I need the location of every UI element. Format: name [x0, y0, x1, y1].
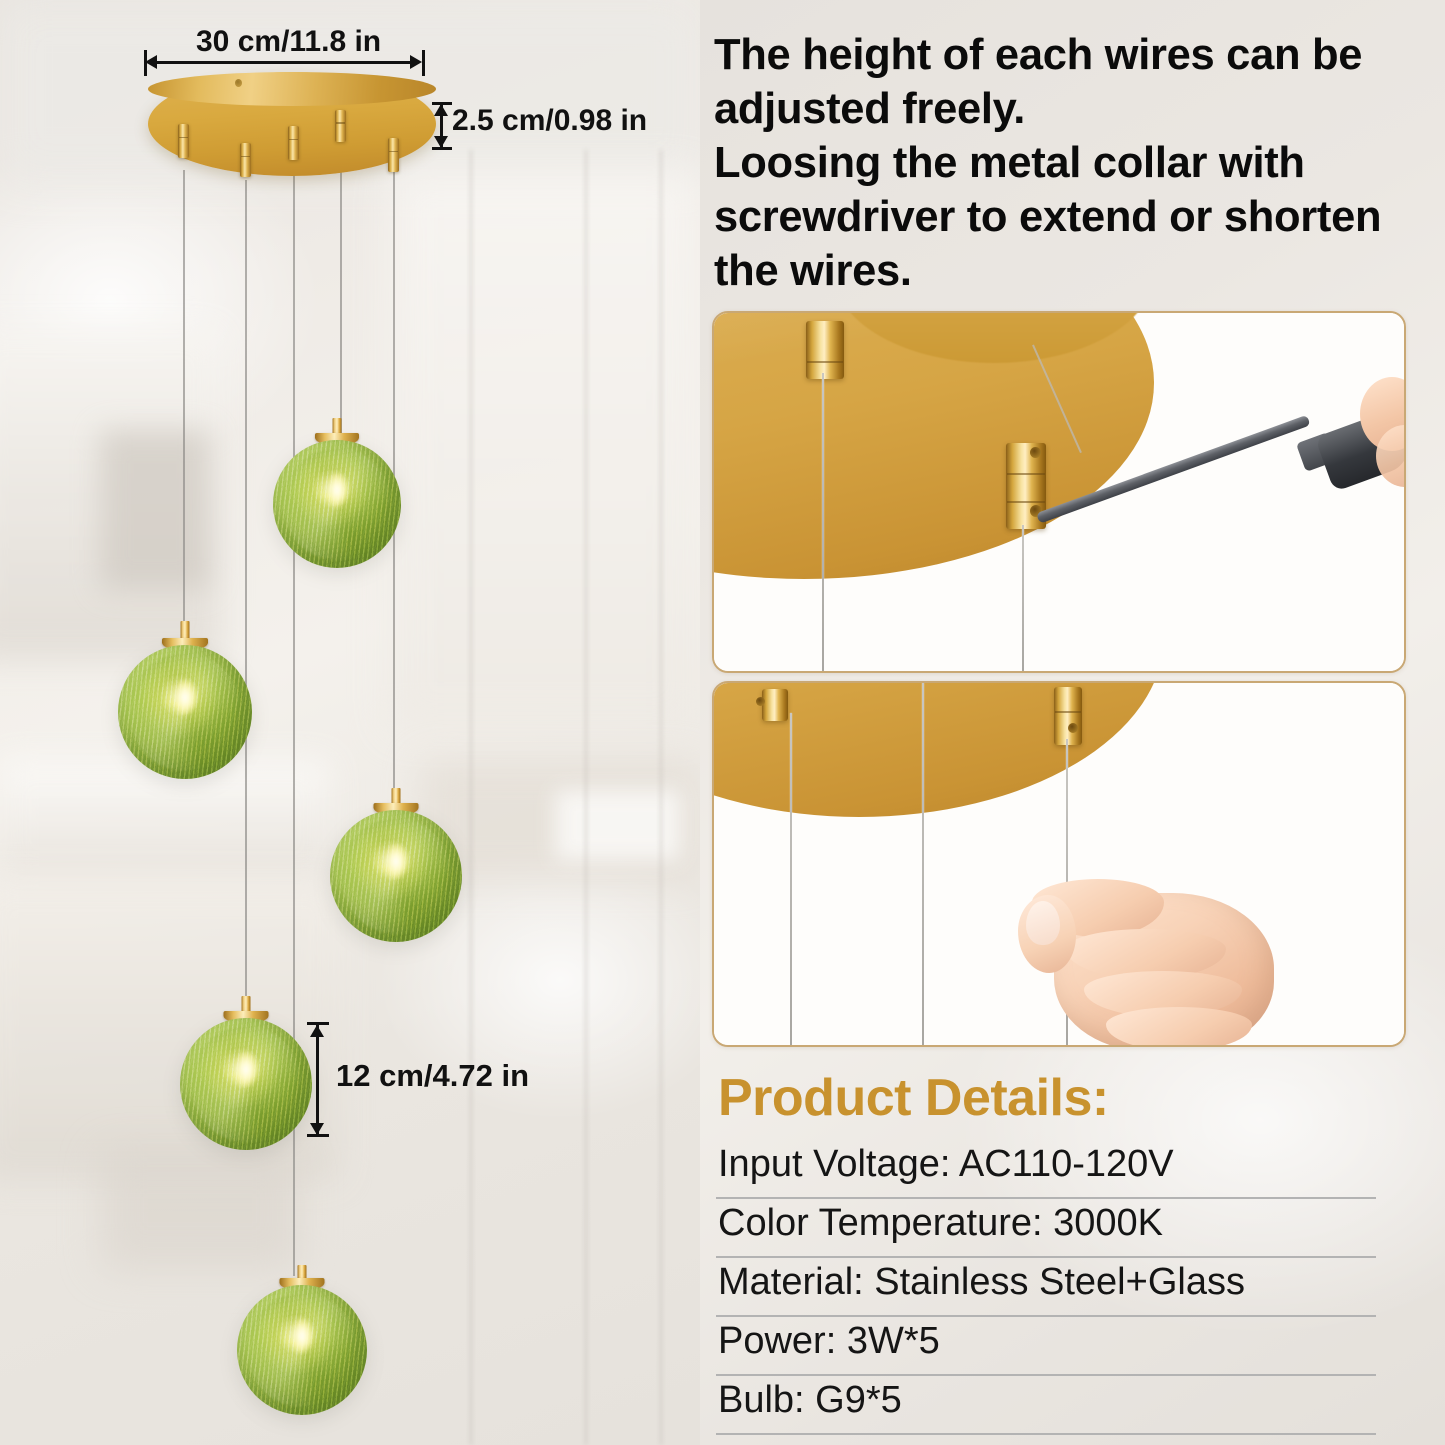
pendant-globe-5	[237, 1285, 367, 1415]
wire-collar-5	[388, 138, 399, 172]
globe-arrow-down-icon	[310, 1123, 324, 1135]
screwdriver-photo-inner	[714, 313, 1404, 671]
headline-line-4: screwdriver to extend or shorten	[714, 190, 1436, 244]
thickness-arrow-down-icon	[434, 136, 448, 148]
suspension-wire-1	[183, 170, 185, 655]
glass-ball	[330, 810, 462, 942]
detail-text: Input Voltage: AC110-120V	[718, 1140, 1174, 1188]
detail-text: Power: 3W*5	[718, 1317, 940, 1365]
wire-collar-c	[1054, 687, 1082, 745]
hand-photo-inner	[714, 683, 1404, 1045]
product-details-list: Input Voltage: AC110-120V Color Temperat…	[716, 1140, 1376, 1435]
globe-dimension-label: 12 cm/4.72 in	[336, 1058, 529, 1094]
globe-arrow-up-icon	[310, 1025, 324, 1037]
product-hero-scene: 30 cm/11.8 in 2.5 cm/0.98 in 12 cm/4.72 …	[0, 0, 700, 1445]
collar-eyelet	[1030, 447, 1041, 458]
instruction-headline: The height of each wires can be adjusted…	[714, 28, 1436, 298]
bg-cabinet-recess	[100, 430, 210, 590]
detail-row-power: Power: 3W*5	[716, 1317, 1376, 1376]
pendant-globe-1	[273, 440, 401, 568]
wire-collar-left	[806, 321, 844, 379]
bulb-glow	[235, 1052, 256, 1086]
detail-row-bulb: Bulb: G9*5	[716, 1376, 1376, 1435]
hand-detail-photo	[712, 681, 1406, 1047]
wire-collar-4	[335, 110, 346, 142]
bulb-glow	[327, 473, 347, 506]
width-arrow-right-icon	[410, 55, 422, 69]
bg-wall-seam-2	[585, 150, 587, 1445]
width-dimension-label: 30 cm/11.8 in	[196, 25, 381, 59]
detail-row-color-temperature: Color Temperature: 3000K	[716, 1199, 1376, 1258]
thickness-arrow-up-icon	[434, 104, 448, 116]
thumb-nail	[1026, 901, 1060, 945]
product-details-title: Product Details:	[718, 1068, 1109, 1128]
width-arrow-left-icon	[145, 55, 157, 69]
canopy-top-face	[148, 72, 436, 106]
detail-row-material: Material: Stainless Steel+Glass	[716, 1258, 1376, 1317]
headline-line-1: The height of each wires can be	[714, 28, 1436, 82]
wire-collar-3	[288, 126, 299, 160]
wire-center	[1022, 525, 1024, 671]
hand-pulling-wire	[1014, 871, 1314, 1045]
headline-line-5: the wires.	[714, 244, 1436, 298]
width-tick-right	[422, 50, 425, 76]
glass-ball	[180, 1018, 312, 1150]
collar-seam	[807, 361, 843, 363]
suspension-wire-2	[245, 180, 247, 1020]
right-info-column: The height of each wires can be adjusted…	[700, 0, 1445, 1445]
wire-a	[790, 713, 792, 1045]
width-dimension-line	[150, 61, 418, 64]
little-finger	[1106, 1007, 1252, 1045]
glass-ball	[273, 440, 401, 568]
canopy-screw	[235, 79, 242, 87]
wire-collar-a	[762, 689, 788, 721]
bulb-glow	[385, 844, 406, 878]
headline-line-2: adjusted freely.	[714, 82, 1436, 136]
collar-seam-c	[1055, 711, 1081, 713]
suspension-wire-4	[340, 140, 342, 440]
bg-floor-shadow	[100, 1150, 300, 1270]
wire-collar-2	[240, 143, 251, 177]
screwdriver-detail-photo	[712, 311, 1406, 673]
bg-wall-panel	[390, 170, 700, 730]
wire-left	[822, 373, 824, 671]
collar-seam-lower	[1007, 501, 1045, 503]
detail-text: Color Temperature: 3000K	[718, 1199, 1163, 1247]
detail-row-input-voltage: Input Voltage: AC110-120V	[716, 1140, 1376, 1199]
thickness-dimension-label: 2.5 cm/0.98 in	[452, 104, 647, 138]
bg-wall-seam-3	[660, 150, 662, 1445]
product-infographic: 30 cm/11.8 in 2.5 cm/0.98 in 12 cm/4.72 …	[0, 0, 1445, 1445]
detail-text: Bulb: G9*5	[718, 1376, 902, 1424]
collar-screw-a	[756, 697, 765, 706]
wire-collar-1	[178, 124, 189, 158]
collar-seam-upper	[1007, 473, 1045, 475]
detail-divider	[716, 1433, 1376, 1435]
pendant-globe-4	[180, 1018, 312, 1150]
bulb-glow	[174, 680, 195, 715]
headline-line-3: Loosing the metal collar with	[714, 136, 1436, 190]
pendant-globe-3	[330, 810, 462, 942]
bg-wall-seam-1	[470, 150, 472, 1445]
collar-screw-c	[1068, 723, 1078, 733]
glass-ball	[118, 645, 252, 779]
bulb-glow	[292, 1319, 313, 1353]
glass-ball	[237, 1285, 367, 1415]
detail-text: Material: Stainless Steel+Glass	[718, 1258, 1245, 1306]
pendant-globe-2	[118, 645, 252, 779]
wire-b	[922, 683, 924, 1045]
globe-dimension-line	[316, 1025, 319, 1135]
